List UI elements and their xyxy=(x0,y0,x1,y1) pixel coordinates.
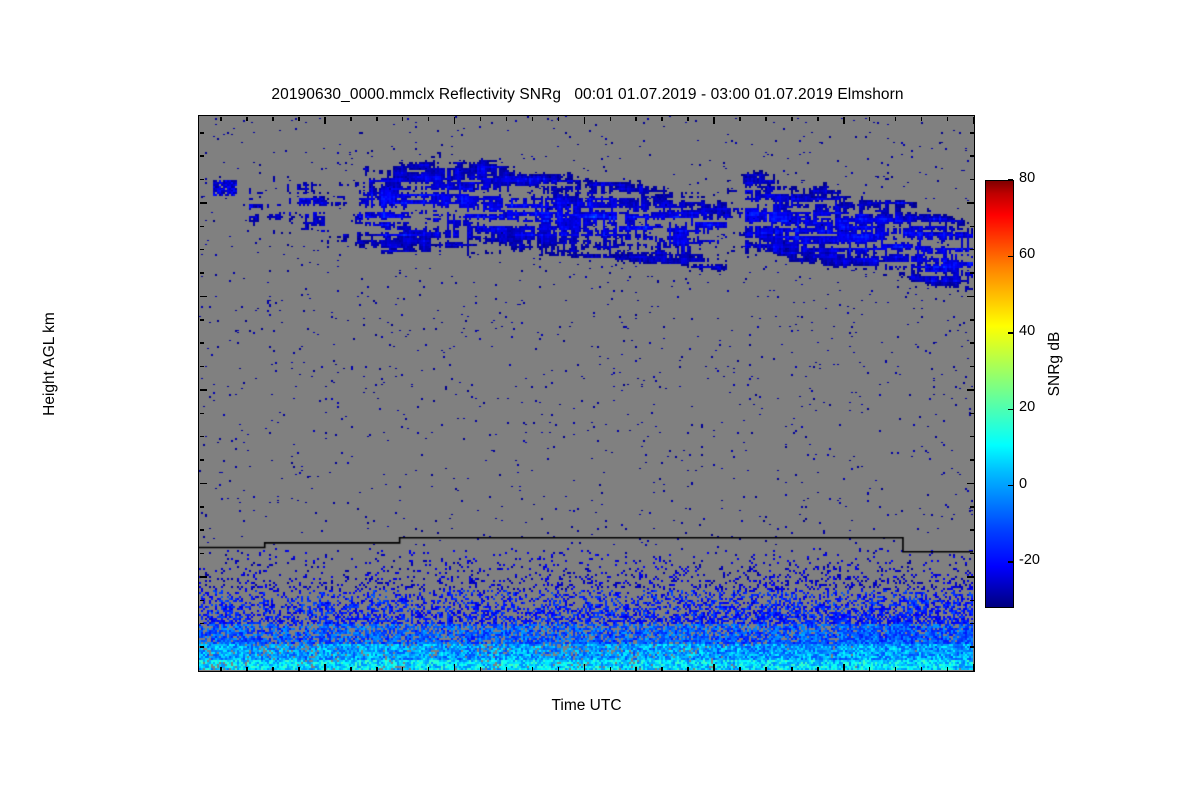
x-tick-major xyxy=(713,664,715,671)
x-tick-major-top xyxy=(324,117,326,124)
colorbar-tick xyxy=(1008,179,1013,181)
x-tick-minor-top xyxy=(921,117,923,121)
x-tick-minor-top xyxy=(610,117,612,121)
y-tick-minor-right xyxy=(970,226,974,228)
y-tick-minor xyxy=(200,272,204,274)
x-tick-minor xyxy=(532,667,534,671)
y-tick-minor-right xyxy=(970,413,974,415)
colorbar-tick-label: -20 xyxy=(1019,552,1040,568)
x-tick-minor xyxy=(947,667,949,671)
x-tick-major-top xyxy=(584,117,586,124)
x-tick-minor-top xyxy=(532,117,534,121)
y-tick-minor-right xyxy=(970,436,974,438)
colorbar-tick-label: 40 xyxy=(1019,323,1035,339)
colorbar-tick-label: 60 xyxy=(1019,246,1035,262)
x-tick-minor xyxy=(635,667,637,671)
colorbar-tick xyxy=(1008,409,1013,411)
y-tick-minor xyxy=(200,529,204,531)
reflectivity-heatmap-canvas xyxy=(199,116,973,670)
y-tick-minor xyxy=(200,646,204,648)
x-tick-minor-top xyxy=(246,117,248,121)
x-tick-major-top xyxy=(973,117,975,124)
x-tick-minor-top xyxy=(506,117,508,121)
x-tick-minor xyxy=(298,667,300,671)
x-tick-minor xyxy=(220,667,222,671)
x-tick-major xyxy=(584,664,586,671)
y-tick-minor-right xyxy=(970,600,974,602)
x-tick-minor-top xyxy=(791,117,793,121)
y-tick-minor xyxy=(200,436,204,438)
x-tick-minor-top xyxy=(480,117,482,121)
x-tick-minor-top xyxy=(765,117,767,121)
colorbar-tick xyxy=(1008,561,1013,563)
y-tick-minor-right xyxy=(970,132,974,134)
x-tick-major-top xyxy=(454,117,456,124)
x-tick-minor-top xyxy=(220,117,222,121)
x-tick-minor xyxy=(558,667,560,671)
y-tick-minor-right xyxy=(970,553,974,555)
x-tick-minor xyxy=(610,667,612,671)
x-axis-title: Time UTC xyxy=(198,697,975,715)
x-tick-minor-top xyxy=(635,117,637,121)
x-tick-minor xyxy=(869,667,871,671)
y-tick-minor-right xyxy=(970,366,974,368)
x-tick-minor-top xyxy=(739,117,741,121)
y-tick-minor-right xyxy=(970,155,974,157)
y-tick-major-right xyxy=(967,389,974,391)
y-tick-minor xyxy=(200,459,204,461)
x-tick-minor-top xyxy=(558,117,560,121)
y-tick-major-right xyxy=(967,483,974,485)
x-tick-minor xyxy=(921,667,923,671)
y-tick-minor-right xyxy=(970,506,974,508)
x-tick-minor-top xyxy=(661,117,663,121)
x-tick-minor-top xyxy=(272,117,274,121)
y-tick-minor-right xyxy=(970,249,974,251)
x-tick-minor xyxy=(739,667,741,671)
y-tick-minor xyxy=(200,132,204,134)
y-tick-minor-right xyxy=(970,272,974,274)
x-tick-minor-top xyxy=(350,117,352,121)
y-tick-minor-right xyxy=(970,342,974,344)
y-tick-minor xyxy=(200,179,204,181)
y-tick-minor-right xyxy=(970,646,974,648)
x-tick-minor xyxy=(428,667,430,671)
y-tick-minor xyxy=(200,342,204,344)
x-tick-minor xyxy=(895,667,897,671)
y-tick-minor xyxy=(200,600,204,602)
y-tick-minor xyxy=(200,249,204,251)
y-tick-minor xyxy=(200,623,204,625)
x-tick-minor xyxy=(506,667,508,671)
x-tick-minor xyxy=(687,667,689,671)
x-tick-major xyxy=(973,664,975,671)
x-tick-minor-top xyxy=(402,117,404,121)
colorbar xyxy=(985,180,1014,608)
x-tick-major xyxy=(454,664,456,671)
colorbar-tick-label: 0 xyxy=(1019,476,1027,492)
y-tick-minor xyxy=(200,413,204,415)
radar-reflectivity-figure: 20190630_0000.mmclx Reflectivity SNRg 00… xyxy=(0,0,1200,800)
y-tick-major xyxy=(200,483,207,485)
x-tick-minor-top xyxy=(298,117,300,121)
x-tick-minor-top xyxy=(869,117,871,121)
x-tick-major xyxy=(324,664,326,671)
y-tick-major xyxy=(200,202,207,204)
x-tick-major-top xyxy=(713,117,715,124)
x-tick-minor-top xyxy=(895,117,897,121)
y-tick-minor-right xyxy=(970,623,974,625)
y-tick-minor-right xyxy=(970,319,974,321)
x-tick-minor xyxy=(402,667,404,671)
y-tick-major xyxy=(200,576,207,578)
chart-title: 20190630_0000.mmclx Reflectivity SNRg 00… xyxy=(0,86,1175,104)
y-tick-major-right xyxy=(967,202,974,204)
x-tick-minor xyxy=(350,667,352,671)
y-tick-minor xyxy=(200,553,204,555)
x-tick-minor xyxy=(765,667,767,671)
x-tick-minor xyxy=(376,667,378,671)
y-tick-minor xyxy=(200,506,204,508)
y-tick-minor xyxy=(200,155,204,157)
y-axis-title: Height AGL km xyxy=(41,254,59,474)
y-tick-major xyxy=(200,389,207,391)
x-tick-minor xyxy=(480,667,482,671)
y-tick-major-right xyxy=(967,296,974,298)
x-tick-minor-top xyxy=(376,117,378,121)
colorbar-tick-label: 20 xyxy=(1019,399,1035,415)
x-tick-major-top xyxy=(843,117,845,124)
x-tick-minor xyxy=(661,667,663,671)
x-tick-minor-top xyxy=(817,117,819,121)
x-tick-minor-top xyxy=(428,117,430,121)
colorbar-tick xyxy=(1008,485,1013,487)
x-tick-minor-top xyxy=(687,117,689,121)
y-tick-minor xyxy=(200,226,204,228)
x-tick-minor xyxy=(817,667,819,671)
x-tick-major xyxy=(843,664,845,671)
colorbar-tick xyxy=(1008,332,1013,334)
colorbar-title: SNRg dB xyxy=(1046,264,1064,464)
y-tick-minor-right xyxy=(970,529,974,531)
plot-area xyxy=(198,115,975,672)
x-tick-minor xyxy=(791,667,793,671)
colorbar-tick-label: 80 xyxy=(1019,170,1035,186)
y-tick-major-right xyxy=(967,576,974,578)
colorbar-tick xyxy=(1008,256,1013,258)
y-tick-minor xyxy=(200,319,204,321)
x-tick-minor xyxy=(246,667,248,671)
y-tick-minor xyxy=(200,366,204,368)
y-tick-minor-right xyxy=(970,459,974,461)
y-tick-major xyxy=(200,296,207,298)
y-tick-minor-right xyxy=(970,179,974,181)
x-tick-minor xyxy=(272,667,274,671)
x-tick-minor-top xyxy=(947,117,949,121)
